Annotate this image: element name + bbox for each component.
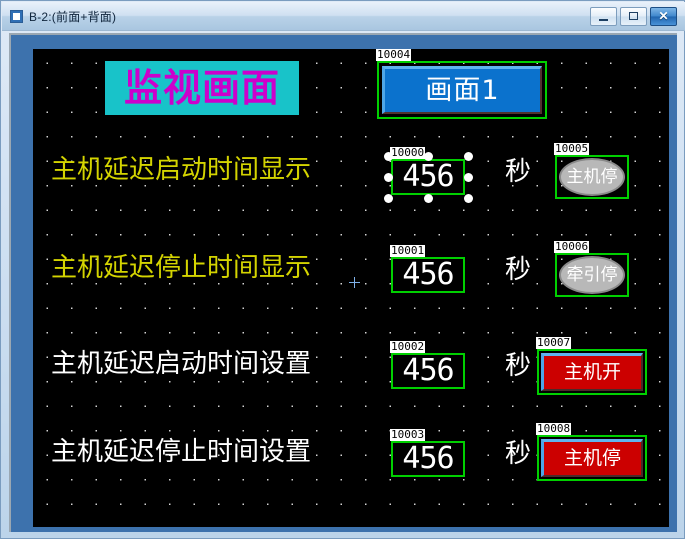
edit-crosshair-cursor bbox=[349, 277, 360, 288]
selection-handle-ne[interactable] bbox=[464, 152, 473, 161]
numeric-display-1-box[interactable]: 456 bbox=[391, 159, 465, 195]
editor-window: B-2:(前面+背面) ✕ 监视画面 bbox=[0, 0, 685, 539]
screen-switch-button[interactable]: 10004 画面1 bbox=[377, 61, 547, 119]
maximize-button[interactable] bbox=[620, 7, 647, 26]
lamp-button-2-tag: 10006 bbox=[554, 241, 589, 253]
numeric-display-1-tag: 10000 bbox=[390, 147, 425, 159]
header-title-block[interactable]: 监视画面 bbox=[105, 61, 299, 115]
editor-frame: 监视画面 10004 画面1 主机延迟启动时间显示 456 10000 bbox=[9, 33, 677, 532]
row-label-3[interactable]: 主机延迟启动时间设置 bbox=[51, 351, 311, 377]
screen-button-label: 画面1 bbox=[425, 77, 499, 104]
row-label-2[interactable]: 主机延迟停止时间显示 bbox=[51, 255, 311, 281]
selection-handle-n[interactable] bbox=[424, 152, 433, 161]
lamp-button-1-face[interactable]: 主机停 bbox=[559, 158, 625, 196]
selection-handle-nw[interactable] bbox=[384, 152, 393, 161]
lamp-button-1-label: 主机停 bbox=[567, 169, 618, 186]
numeric-input-4[interactable]: 456 10003 bbox=[391, 441, 465, 477]
header-title-text: 监视画面 bbox=[124, 69, 280, 107]
numeric-display-2-tag: 10001 bbox=[390, 245, 425, 257]
screen-button-tag: 10004 bbox=[376, 49, 411, 61]
numeric-display-2[interactable]: 456 10001 bbox=[391, 257, 465, 293]
selection-handle-se[interactable] bbox=[464, 194, 473, 203]
lamp-button-1-tag: 10005 bbox=[554, 143, 589, 155]
row-label-1[interactable]: 主机延迟启动时间显示 bbox=[51, 157, 311, 183]
selection-handle-s[interactable] bbox=[424, 194, 433, 203]
numeric-input-4-box[interactable]: 456 bbox=[391, 441, 465, 477]
lamp-button-1[interactable]: 10005 主机停 bbox=[555, 155, 629, 199]
numeric-input-3-value: 456 bbox=[402, 356, 453, 386]
row-label-4[interactable]: 主机延迟停止时间设置 bbox=[51, 439, 311, 465]
screen-button-face[interactable]: 画面1 bbox=[382, 66, 542, 114]
command-button-4-face[interactable]: 主机停 bbox=[541, 439, 643, 477]
screenshot-root: B-2:(前面+背面) ✕ 监视画面 bbox=[0, 0, 685, 539]
command-button-3[interactable]: 10007 主机开 bbox=[537, 349, 647, 395]
numeric-input-3-tag: 10002 bbox=[390, 341, 425, 353]
numeric-input-3[interactable]: 456 10002 bbox=[391, 353, 465, 389]
window-titlebar[interactable]: B-2:(前面+背面) ✕ bbox=[2, 2, 685, 31]
minimize-icon bbox=[599, 19, 608, 21]
selection-handle-e[interactable] bbox=[464, 173, 473, 182]
window-title: B-2:(前面+背面) bbox=[29, 8, 116, 25]
selection-handle-sw[interactable] bbox=[384, 194, 393, 203]
command-button-4[interactable]: 10008 主机停 bbox=[537, 435, 647, 481]
unit-label-4[interactable]: 秒 bbox=[505, 441, 531, 467]
unit-label-3[interactable]: 秒 bbox=[505, 353, 531, 379]
unit-label-1[interactable]: 秒 bbox=[505, 159, 531, 185]
lamp-button-2-face[interactable]: 牵引停 bbox=[559, 256, 625, 294]
minimize-button[interactable] bbox=[590, 7, 617, 26]
numeric-display-1-value: 456 bbox=[402, 162, 453, 192]
maximize-icon bbox=[629, 12, 638, 20]
command-button-3-label: 主机开 bbox=[564, 363, 621, 382]
numeric-display-1[interactable]: 456 10000 bbox=[391, 159, 465, 195]
selection-handle-w[interactable] bbox=[384, 173, 393, 182]
close-icon: ✕ bbox=[658, 10, 668, 22]
numeric-display-2-box[interactable]: 456 bbox=[391, 257, 465, 293]
lamp-button-2[interactable]: 10006 牵引停 bbox=[555, 253, 629, 297]
command-button-3-face[interactable]: 主机开 bbox=[541, 353, 643, 391]
lamp-button-2-label: 牵引停 bbox=[567, 267, 618, 284]
numeric-input-3-box[interactable]: 456 bbox=[391, 353, 465, 389]
unit-label-2[interactable]: 秒 bbox=[505, 257, 531, 283]
close-button[interactable]: ✕ bbox=[650, 7, 677, 26]
window-controls: ✕ bbox=[590, 7, 677, 26]
command-button-4-label: 主机停 bbox=[564, 449, 621, 468]
numeric-display-2-value: 456 bbox=[402, 260, 453, 290]
window-document-icon bbox=[10, 10, 23, 23]
command-button-3-tag: 10007 bbox=[536, 337, 571, 349]
numeric-input-4-tag: 10003 bbox=[390, 429, 425, 441]
design-canvas[interactable]: 监视画面 10004 画面1 主机延迟启动时间显示 456 10000 bbox=[33, 49, 669, 527]
numeric-input-4-value: 456 bbox=[402, 444, 453, 474]
command-button-4-tag: 10008 bbox=[536, 423, 571, 435]
